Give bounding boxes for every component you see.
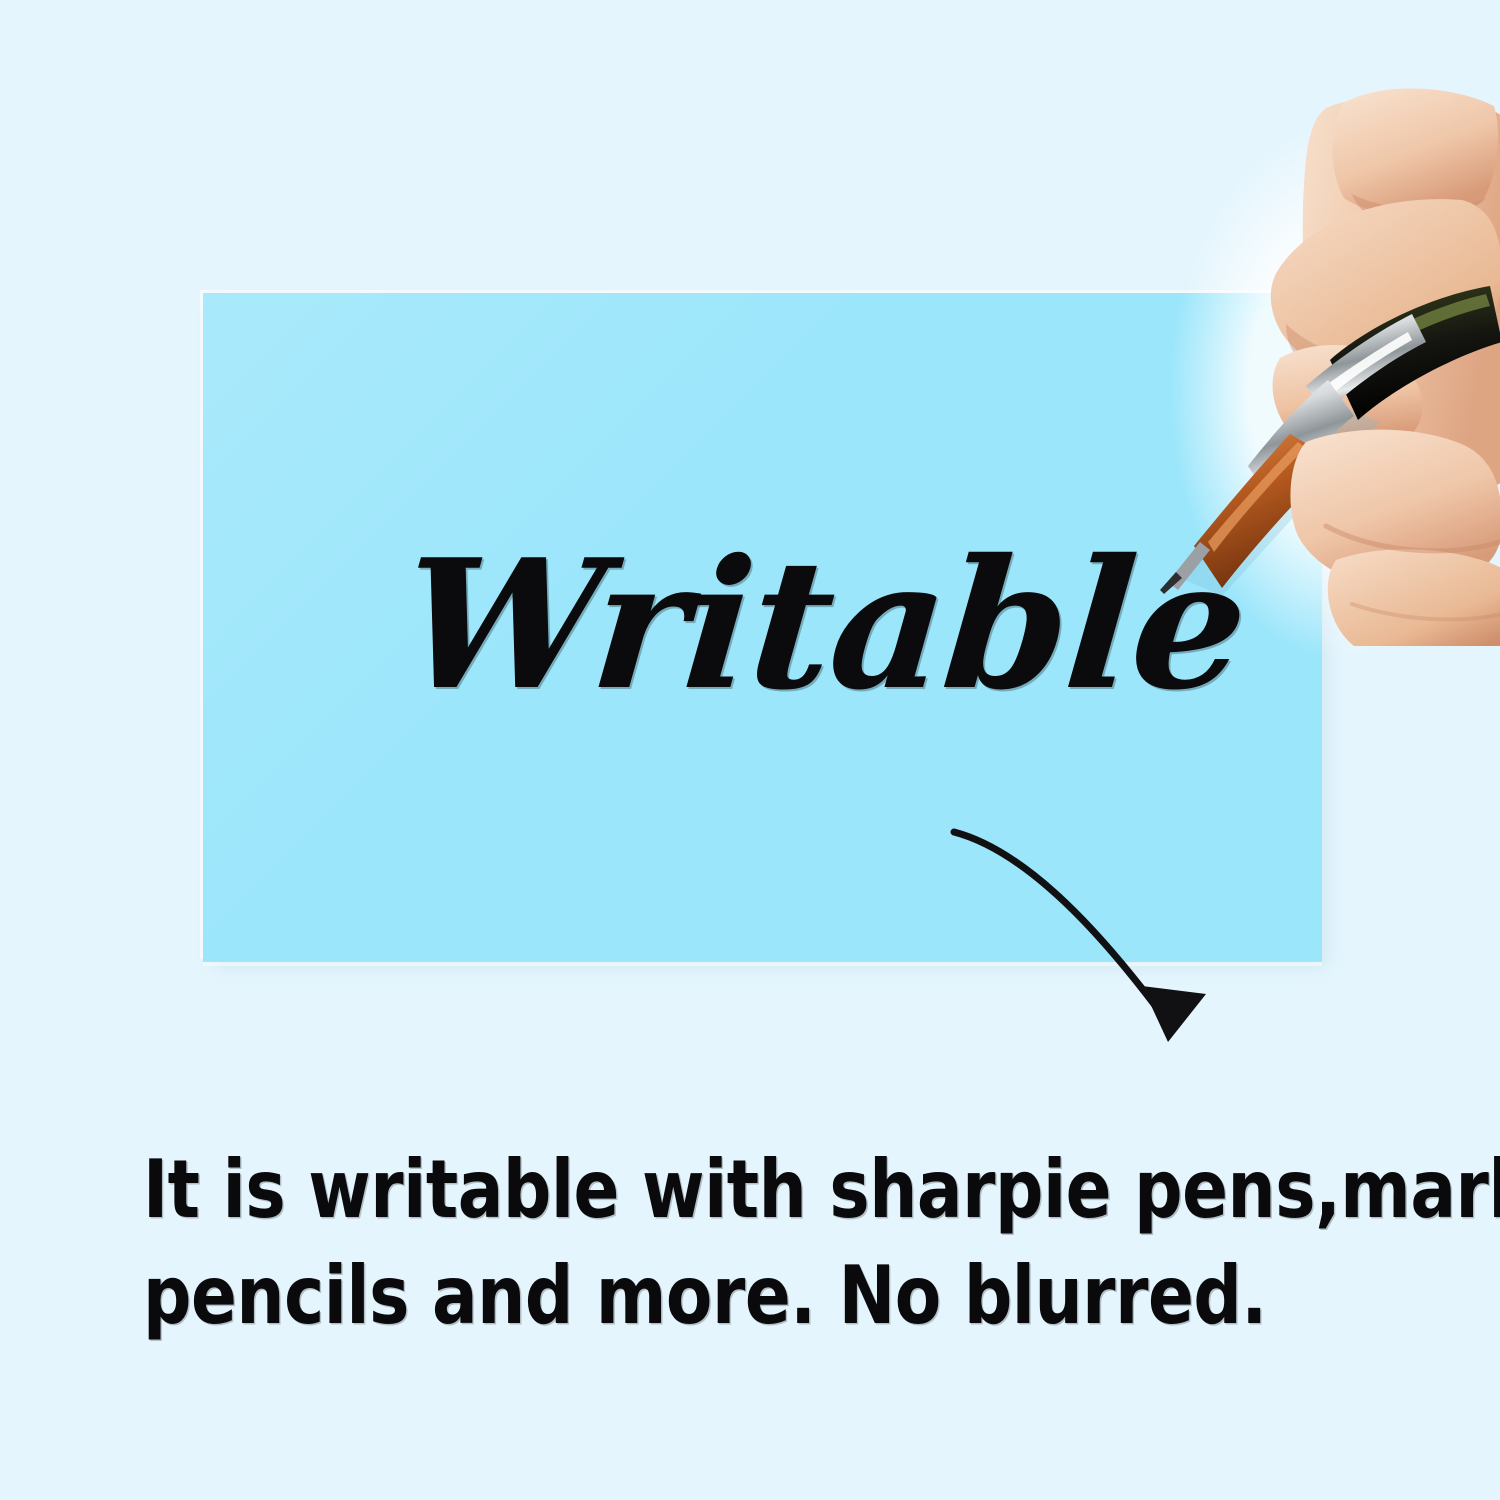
product-image-canvas: Writable [0, 0, 1500, 1500]
caption-block: It is writable with sharpie pens,markers… [143, 1137, 1384, 1349]
caption-line-2: pencils and more. No blurred. [143, 1243, 1384, 1349]
caption-line-1: It is writable with sharpie pens,markers… [143, 1137, 1384, 1243]
handwritten-script-word: Writable [395, 520, 1133, 730]
pinky-finger [1328, 549, 1500, 646]
curved-pointer-arrow [910, 790, 1250, 1080]
hand-holding-pen [1130, 90, 1500, 650]
arrow-curve-path [954, 832, 1160, 1012]
arrow-head [1142, 986, 1206, 1042]
